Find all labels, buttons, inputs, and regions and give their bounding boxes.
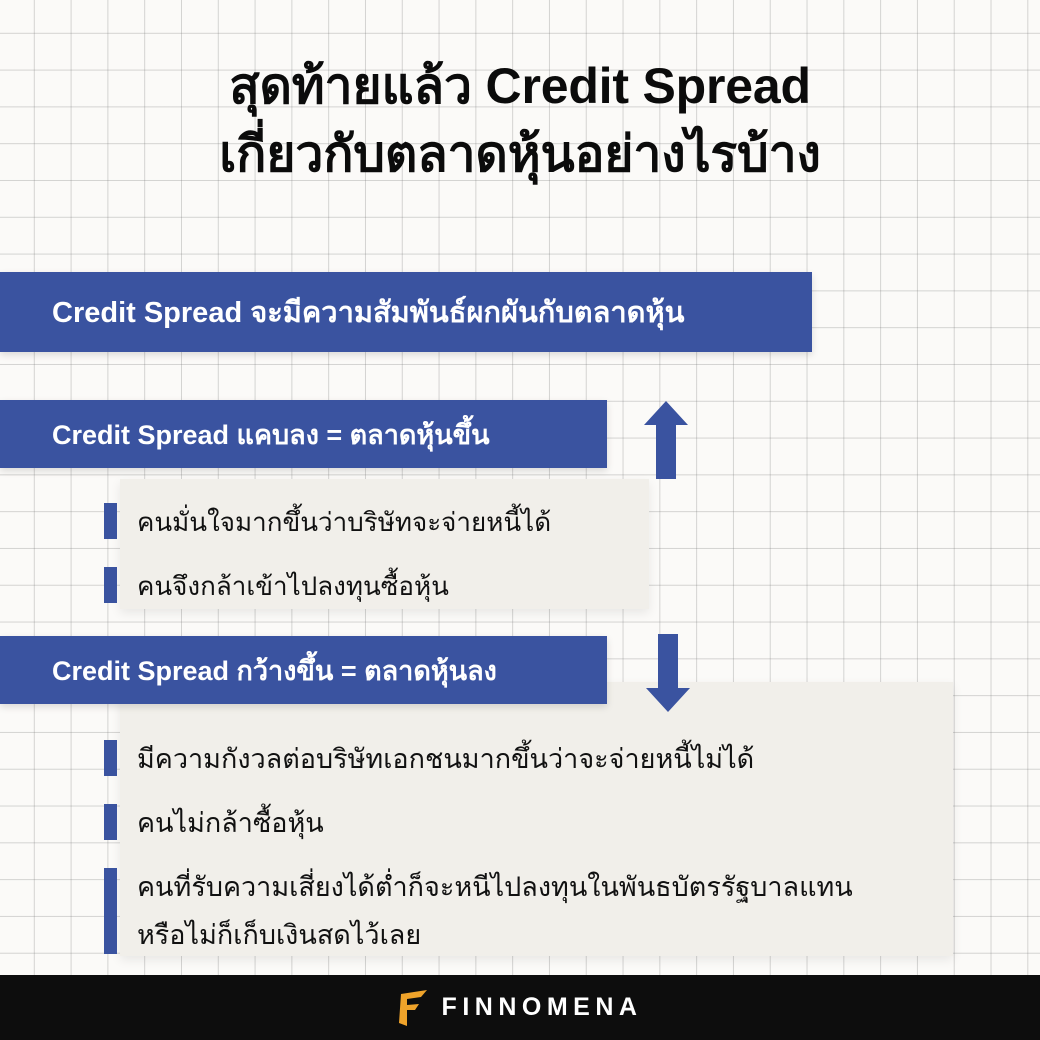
- page-title-line-2: เกี่ยวกับตลาดหุ้นอย่างไรบ้าง: [0, 120, 1040, 188]
- banner-spread-narrowing: Credit Spread แคบลง = ตลาดหุ้นขึ้น: [0, 400, 607, 468]
- bullet-marker-icon: [104, 868, 117, 954]
- bullet-marker-icon: [104, 740, 117, 776]
- arrow-up-icon: [643, 399, 689, 481]
- list-item-label: มีความกังวลต่อบริษัทเอกชนมากขึ้นว่าจะจ่า…: [137, 735, 754, 783]
- arrow-down-icon: [645, 634, 691, 714]
- infographic-canvas: สุดท้ายแล้ว Credit Spread เกี่ยวกับตลาดห…: [0, 0, 1040, 1040]
- page-title-line-1: สุดท้ายแล้ว Credit Spread: [0, 52, 1040, 120]
- list-item-label: คนไม่กล้าซื้อหุ้น: [137, 799, 324, 847]
- finnomena-f-logo-icon: [398, 990, 428, 1026]
- list-item-label: คนมั่นใจมากขึ้นว่าบริษัทจะจ่ายหนี้ได้: [137, 498, 551, 546]
- finnomena-wordmark: FINNOMENA: [442, 993, 643, 1022]
- banner-inverse-relationship-label: Credit Spread จะมีความสัมพันธ์ผกผันกับตล…: [0, 289, 684, 335]
- list-item-label: คนที่รับความเสี่ยงได้ต่ำก็จะหนีไปลงทุนใน…: [137, 863, 853, 959]
- banner-spread-widening: Credit Spread กว้างขึ้น = ตลาดหุ้นลง: [0, 636, 607, 704]
- list-item-label: คนจึงกล้าเข้าไปลงทุนซื้อหุ้น: [137, 562, 449, 610]
- list-item: คนที่รับความเสี่ยงได้ต่ำก็จะหนีไปลงทุนใน…: [104, 863, 853, 959]
- footer-bar: FINNOMENA: [0, 975, 1040, 1040]
- banner-inverse-relationship: Credit Spread จะมีความสัมพันธ์ผกผันกับตล…: [0, 272, 812, 352]
- list-item: คนมั่นใจมากขึ้นว่าบริษัทจะจ่ายหนี้ได้: [104, 498, 551, 546]
- bullet-marker-icon: [104, 567, 117, 603]
- list-item: คนไม่กล้าซื้อหุ้น: [104, 799, 853, 847]
- bullet-list-narrowing: คนมั่นใจมากขึ้นว่าบริษัทจะจ่ายหนี้ได้ คน…: [104, 498, 551, 626]
- page-title: สุดท้ายแล้ว Credit Spread เกี่ยวกับตลาดห…: [0, 52, 1040, 188]
- bullet-list-widening: มีความกังวลต่อบริษัทเอกชนมากขึ้นว่าจะจ่า…: [104, 735, 853, 975]
- bullet-marker-icon: [104, 503, 117, 539]
- bullet-marker-icon: [104, 804, 117, 840]
- banner-spread-widening-label: Credit Spread กว้างขึ้น = ตลาดหุ้นลง: [0, 649, 497, 692]
- list-item: คนจึงกล้าเข้าไปลงทุนซื้อหุ้น: [104, 562, 551, 610]
- list-item: มีความกังวลต่อบริษัทเอกชนมากขึ้นว่าจะจ่า…: [104, 735, 853, 783]
- banner-spread-narrowing-label: Credit Spread แคบลง = ตลาดหุ้นขึ้น: [0, 413, 490, 456]
